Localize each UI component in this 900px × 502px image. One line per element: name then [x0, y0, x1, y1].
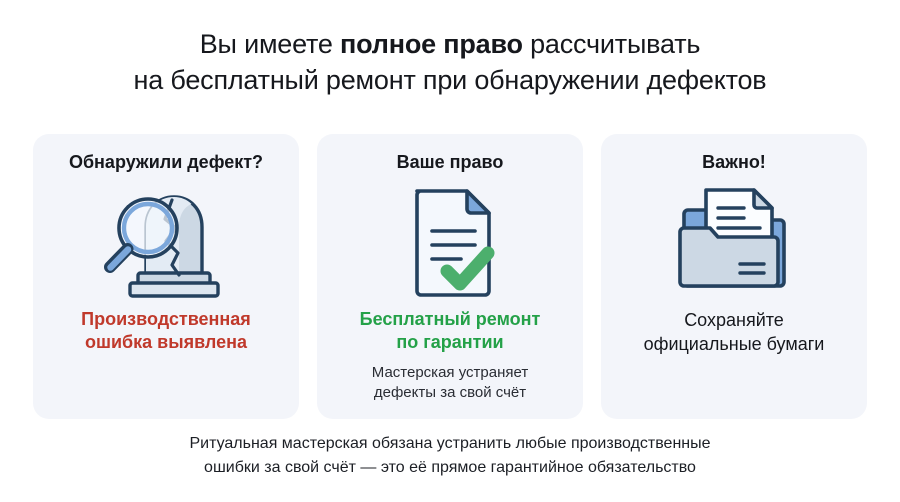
- card-sub-line-1: Мастерская устраняет: [372, 363, 528, 383]
- card-main-line-1: Производственная: [81, 308, 251, 331]
- card-main-text: Бесплатный ремонт по гарантии: [360, 308, 541, 354]
- card-important[interactable]: Важно! Сох: [601, 134, 867, 419]
- card-main-line-2: ошибка выявлена: [81, 331, 251, 354]
- page-title: Вы имеете полное право рассчитывать на б…: [0, 26, 900, 98]
- card-heading: Обнаружили дефект?: [69, 150, 263, 174]
- card-heading: Ваше право: [397, 150, 504, 174]
- card-your-right[interactable]: Ваше право Бесплатный ремонт по гарантии: [317, 134, 583, 419]
- page-title-line-1-pre: Вы имеете: [200, 29, 340, 59]
- folder-document-icon: [670, 182, 798, 302]
- card-main-text: Сохраняйте официальные бумаги: [644, 308, 825, 356]
- card-main-text: Производственная ошибка выявлена: [81, 308, 251, 354]
- card-main-line-1: Бесплатный ремонт: [360, 308, 541, 331]
- page-title-line-1: Вы имеете полное право рассчитывать: [0, 26, 900, 62]
- page-title-line-1-bold: полное право: [340, 29, 523, 59]
- card-main-line-2: по гарантии: [360, 331, 541, 354]
- card-defect-found[interactable]: Обнаружили дефект?: [33, 134, 299, 419]
- card-main-line-1: Сохраняйте: [644, 308, 825, 332]
- cards-row: Обнаружили дефект?: [33, 134, 867, 419]
- infographic-page: Вы имеете полное право рассчитывать на б…: [0, 0, 900, 502]
- page-title-line-1-post: рассчитывать: [523, 29, 700, 59]
- card-main-line-2: официальные бумаги: [644, 332, 825, 356]
- magnifier-cracked-monument-icon: [86, 182, 246, 302]
- footer-note: Ритуальная мастерская обязана устранить …: [0, 432, 900, 480]
- page-title-line-2: на бесплатный ремонт при обнаружении деф…: [0, 62, 900, 98]
- footer-line-2: ошибки за свой счёт — это её прямое гара…: [0, 456, 900, 480]
- footer-line-1: Ритуальная мастерская обязана устранить …: [0, 432, 900, 456]
- card-sub-line-2: дефекты за свой счёт: [372, 383, 528, 403]
- card-heading: Важно!: [702, 150, 766, 174]
- document-checkmark-icon: [391, 182, 509, 302]
- card-sub-text: Мастерская устраняет дефекты за свой счё…: [372, 363, 528, 403]
